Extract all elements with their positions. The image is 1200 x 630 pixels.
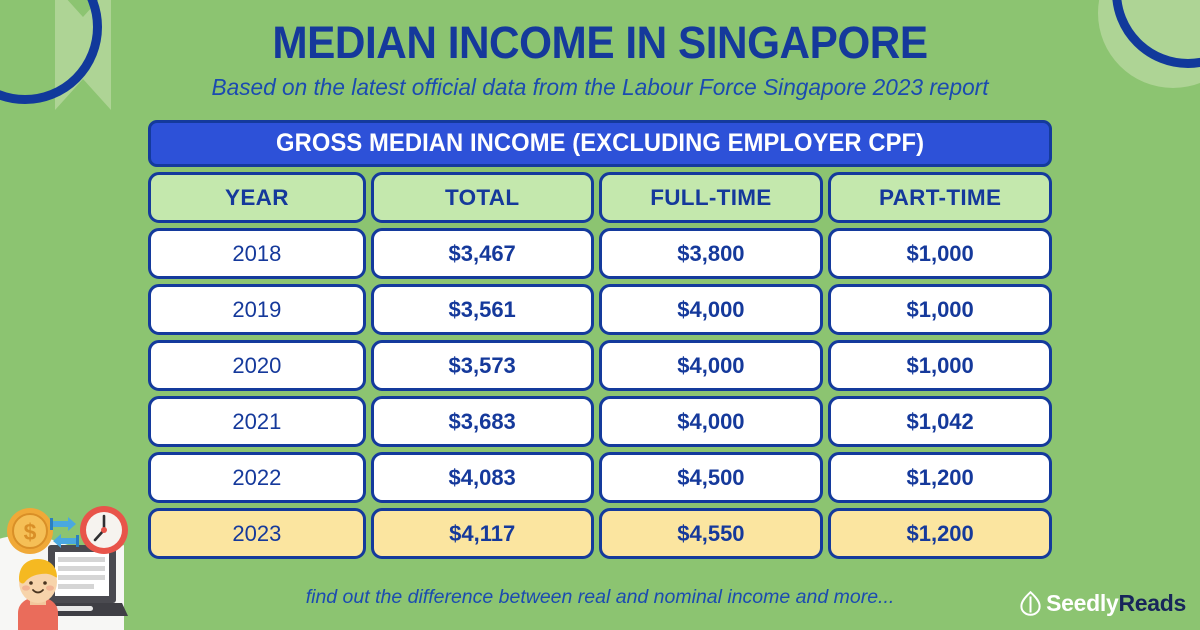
leaf-icon xyxy=(1020,591,1041,616)
cell-part-time: $1,000 xyxy=(828,284,1052,335)
table-banner: GROSS MEDIAN INCOME (EXCLUDING EMPLOYER … xyxy=(148,120,1052,167)
poster-header: MEDIAN INCOME IN SINGAPORE Based on the … xyxy=(0,16,1200,102)
cell-total: $4,117 xyxy=(371,508,594,559)
cell-part-time: $1,200 xyxy=(828,508,1052,559)
cell-full-time: $4,000 xyxy=(599,396,824,447)
cell-part-time: $1,200 xyxy=(828,452,1052,503)
cell-total: $3,683 xyxy=(371,396,594,447)
cell-total: $3,467 xyxy=(371,228,594,279)
column-header-total: TOTAL xyxy=(371,172,594,223)
cell-year: 2019 xyxy=(148,284,366,335)
seedly-reads-logo: SeedlyReads xyxy=(1020,588,1186,618)
column-header-year: YEAR xyxy=(148,172,366,223)
table-row: 2019 $3,561 $4,000 $1,000 xyxy=(148,284,1052,335)
page-subtitle: Based on the latest official data from t… xyxy=(9,72,1191,102)
cell-year: 2021 xyxy=(148,396,366,447)
brand-name-primary: Seedly xyxy=(1046,590,1118,616)
brand-wordmark: SeedlyReads xyxy=(1046,591,1186,616)
column-header-part-time: PART-TIME xyxy=(828,172,1052,223)
cell-part-time: $1,042 xyxy=(828,396,1052,447)
income-table: GROSS MEDIAN INCOME (EXCLUDING EMPLOYER … xyxy=(148,120,1052,559)
table-row-highlighted: 2023 $4,117 $4,550 $1,200 xyxy=(148,508,1052,559)
cell-part-time: $1,000 xyxy=(828,340,1052,391)
cell-year: 2020 xyxy=(148,340,366,391)
table-row: 2020 $3,573 $4,000 $1,000 xyxy=(148,340,1052,391)
poster-canvas: MEDIAN INCOME IN SINGAPORE Based on the … xyxy=(0,0,1200,630)
column-header-full-time: FULL-TIME xyxy=(599,172,824,223)
svg-text:$: $ xyxy=(24,519,37,545)
cell-full-time: $3,800 xyxy=(599,228,824,279)
brand-name-secondary: Reads xyxy=(1118,590,1186,616)
finance-illustration: $ xyxy=(0,487,146,630)
cell-total: $3,573 xyxy=(371,340,594,391)
cell-full-time: $4,000 xyxy=(599,284,824,335)
cell-full-time: $4,000 xyxy=(599,340,824,391)
cell-full-time: $4,550 xyxy=(599,508,824,559)
cell-year: 2022 xyxy=(148,452,366,503)
table-row: 2021 $3,683 $4,000 $1,042 xyxy=(148,396,1052,447)
page-title: MEDIAN INCOME IN SINGAPORE xyxy=(36,16,1164,70)
cell-part-time: $1,000 xyxy=(828,228,1052,279)
cell-year: 2018 xyxy=(148,228,366,279)
table-header-row: YEAR TOTAL FULL-TIME PART-TIME xyxy=(148,172,1052,223)
cell-total: $4,083 xyxy=(371,452,594,503)
cell-year: 2023 xyxy=(148,508,366,559)
table-row: 2022 $4,083 $4,500 $1,200 xyxy=(148,452,1052,503)
table-banner-label: GROSS MEDIAN INCOME (EXCLUDING EMPLOYER … xyxy=(276,129,924,158)
cell-full-time: $4,500 xyxy=(599,452,824,503)
table-row: 2018 $3,467 $3,800 $1,000 xyxy=(148,228,1052,279)
cell-total: $3,561 xyxy=(371,284,594,335)
